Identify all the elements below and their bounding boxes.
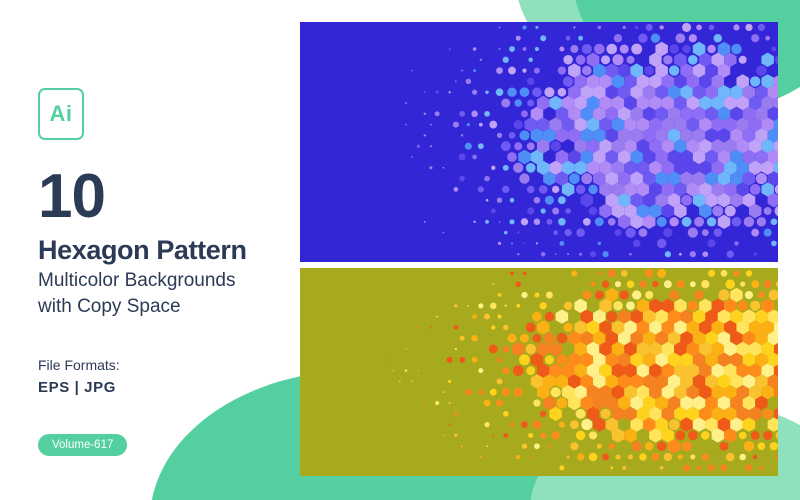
info-panel: Ai 10 Hexagon Pattern Multicolor Backgro… [38,88,288,456]
file-formats-label: File Formats: [38,357,288,373]
page-title: Hexagon Pattern [38,235,288,266]
blue-hexagon-preview [300,22,778,262]
file-formats-value: EPS | JPG [38,379,288,396]
blue-hexagon-pattern [300,22,778,262]
ai-badge-label: Ai [50,101,73,127]
poster-canvas: Ai 10 Hexagon Pattern Multicolor Backgro… [0,0,800,500]
item-count: 10 [38,168,288,227]
volume-badge: Volume-617 [38,434,127,456]
olive-hexagon-pattern [300,268,778,476]
page-subtitle-line2: with Copy Space [38,296,288,318]
page-subtitle-line1: Multicolor Backgrounds [38,270,288,292]
olive-hexagon-preview [300,268,778,476]
ai-format-icon: Ai [38,88,84,140]
